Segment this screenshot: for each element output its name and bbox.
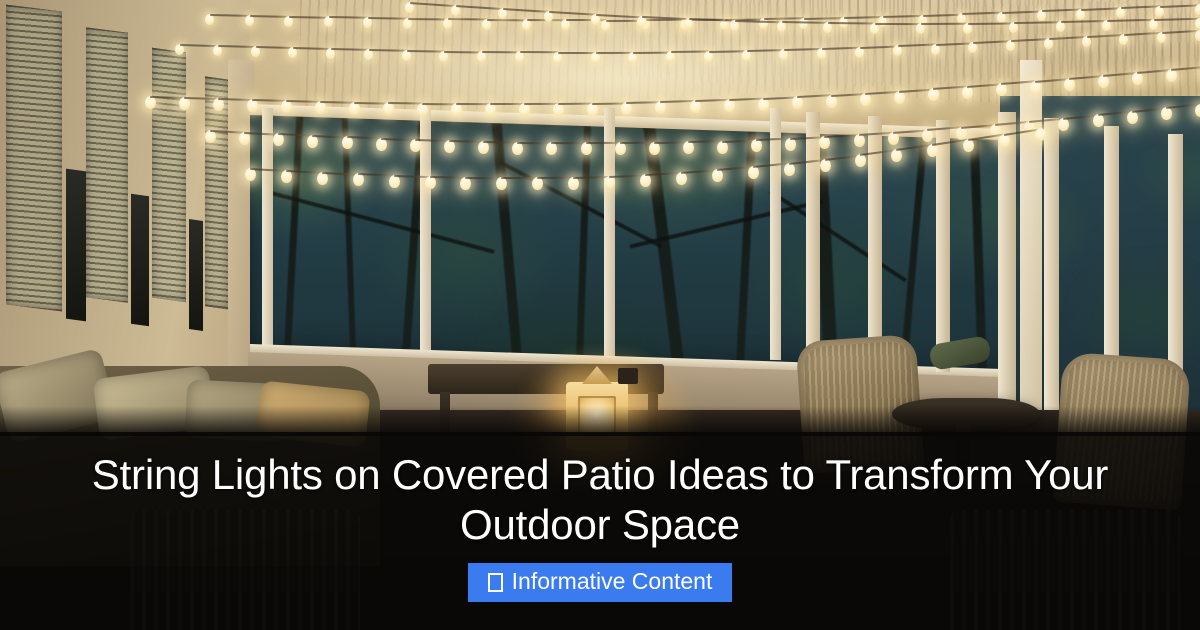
string-light-wire <box>573 176 609 179</box>
string-light-wire <box>444 51 482 54</box>
string-light-bulb <box>683 141 694 154</box>
string-light-bulb <box>342 136 353 149</box>
porch-post <box>806 112 820 362</box>
string-light-bulb <box>615 142 626 155</box>
string-light-wire <box>968 22 1014 25</box>
window-pane <box>189 219 203 331</box>
string-light-bulb <box>1037 10 1046 21</box>
string-light-bulb <box>928 88 939 101</box>
string-light-bulb <box>893 45 902 56</box>
share-card: String Lights on Covered Patio Ideas to … <box>0 0 1200 630</box>
string-light-bulb <box>922 129 933 142</box>
window-shutter <box>6 5 62 312</box>
screen-mullion <box>262 108 273 360</box>
string-light-bulb <box>996 83 1007 96</box>
string-light-wire <box>921 23 967 25</box>
string-light-bulb <box>690 100 701 113</box>
missing-glyph-box-icon <box>488 573 503 592</box>
window-pane <box>66 169 86 322</box>
string-light-wire <box>408 18 448 21</box>
content-type-badge[interactable]: Informative Content <box>468 563 733 602</box>
string-light-wire <box>804 17 844 20</box>
string-light-wire <box>558 52 596 54</box>
screened-panel-band <box>250 112 1040 378</box>
string-light-bulb <box>1035 128 1046 141</box>
string-light-bulb <box>581 142 592 155</box>
screen-mullion <box>604 108 615 360</box>
string-light-bulb <box>1082 36 1091 47</box>
wall-outlet <box>618 368 638 384</box>
window-shutter <box>86 27 128 303</box>
string-light-bulb <box>724 99 735 112</box>
string-light-bulb <box>1195 4 1200 15</box>
string-light-bulb <box>748 166 759 179</box>
string-light-bulb <box>1116 7 1125 18</box>
porch-post <box>998 112 1016 430</box>
window-pane <box>131 194 149 327</box>
page-title: String Lights on Covered Patio Ideas to … <box>45 450 1155 550</box>
screen-mullion <box>420 108 431 360</box>
string-light-bulb <box>1161 107 1172 120</box>
string-light-bulb <box>854 134 865 147</box>
string-light-bulb <box>1195 104 1200 117</box>
badge-label: Informative Content <box>512 570 713 593</box>
string-light-wire <box>501 177 537 179</box>
string-light-bulb <box>444 140 455 153</box>
window-shutter <box>152 48 186 303</box>
overlay-content: String Lights on Covered Patio Ideas to … <box>0 432 1200 630</box>
string-light-bulb <box>792 96 803 109</box>
string-light-wire <box>875 23 921 25</box>
porch-corner-post <box>1020 60 1042 440</box>
window-shutter <box>205 76 229 310</box>
string-light-wire <box>709 50 747 53</box>
string-light-bulb <box>443 18 452 29</box>
string-light-bulb <box>353 173 364 186</box>
porch-post <box>936 120 950 372</box>
string-light-bulb <box>1195 30 1200 41</box>
string-light-bulb <box>1195 18 1200 29</box>
string-light-bulb <box>324 16 333 27</box>
screen-mullion <box>770 108 781 360</box>
string-light-bulb <box>712 169 723 182</box>
string-light-wire <box>487 19 527 21</box>
string-light-bulb <box>1056 21 1065 32</box>
string-light-wire <box>289 16 329 19</box>
string-light-bulb <box>1093 114 1104 127</box>
string-light-wire <box>596 52 634 54</box>
string-light-bulb <box>777 21 786 32</box>
porch-post-right <box>1044 118 1059 430</box>
string-light-wire <box>465 177 501 179</box>
string-light-bulb <box>1044 38 1053 49</box>
